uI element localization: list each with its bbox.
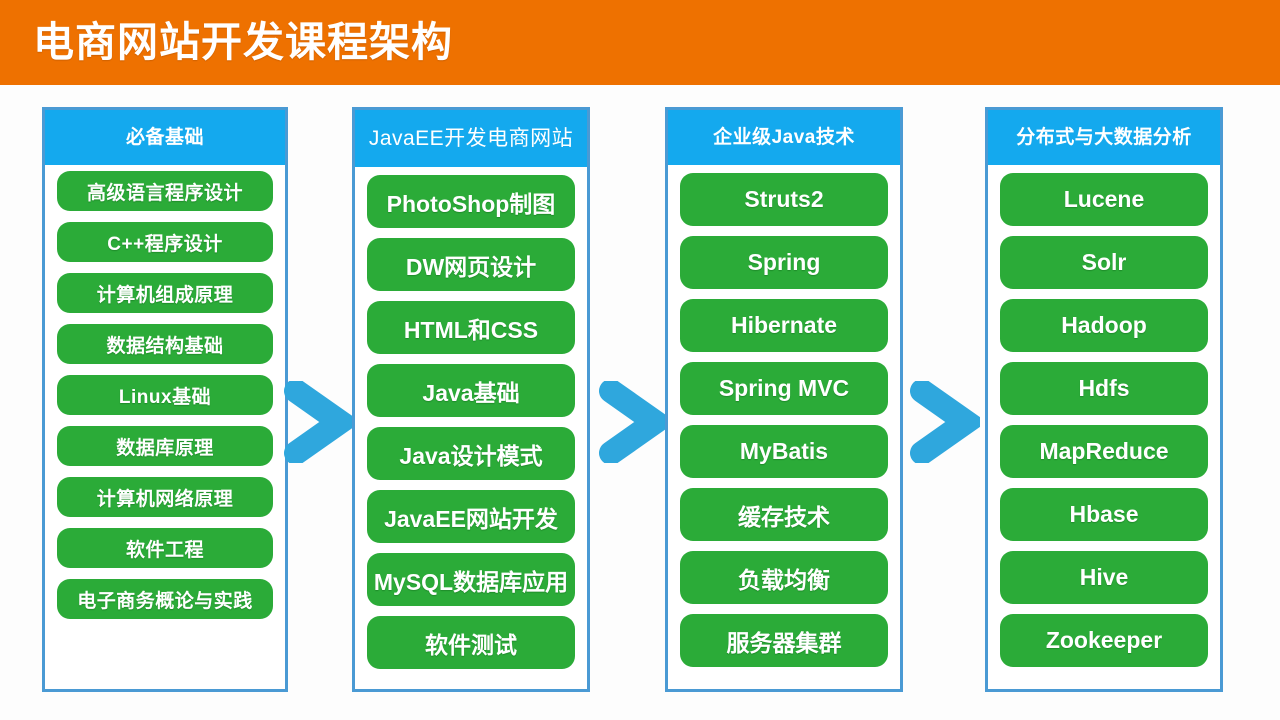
course-pill[interactable]: Hbase [1000,488,1208,541]
course-pill[interactable]: 服务器集群 [680,614,888,667]
chevron-right-icon [597,381,669,463]
course-pill[interactable]: Java设计模式 [367,427,575,480]
course-column-basics[interactable]: 必备基础 高级语言程序设计 C++程序设计 计算机组成原理 数据结构基础 Lin… [42,107,288,692]
chevron-right-icon [282,381,354,463]
course-pill[interactable]: 高级语言程序设计 [57,171,273,211]
course-pill[interactable]: Hdfs [1000,362,1208,415]
course-pill[interactable]: Zookeeper [1000,614,1208,667]
course-pill[interactable]: Hadoop [1000,299,1208,352]
course-pill[interactable]: DW网页设计 [367,238,575,291]
column-body-bigdata: Lucene Solr Hadoop Hdfs MapReduce Hbase … [988,165,1220,689]
column-body-enterprise-java: Struts2 Spring Hibernate Spring MVC MyBa… [668,165,900,689]
course-pill[interactable]: Hibernate [680,299,888,352]
course-pill[interactable]: Struts2 [680,173,888,226]
course-pill[interactable]: 缓存技术 [680,488,888,541]
course-pill[interactable]: Lucene [1000,173,1208,226]
course-column-enterprise-java[interactable]: 企业级Java技术 Struts2 Spring Hibernate Sprin… [665,107,903,692]
course-pill[interactable]: 计算机组成原理 [57,273,273,313]
chevron-right-icon [908,381,980,463]
course-column-javaee[interactable]: JavaEE开发电商网站 PhotoShop制图 DW网页设计 HTML和CSS… [352,107,590,692]
course-pill[interactable]: Spring MVC [680,362,888,415]
title-bar: 电商网站开发课程架构 [0,0,1280,85]
course-pill[interactable]: 软件测试 [367,616,575,669]
column-header-javaee: JavaEE开发电商网站 [355,110,587,167]
column-header-basics: 必备基础 [45,110,285,165]
column-body-basics: 高级语言程序设计 C++程序设计 计算机组成原理 数据结构基础 Linux基础 … [45,165,285,689]
course-roadmap: 必备基础 高级语言程序设计 C++程序设计 计算机组成原理 数据结构基础 Lin… [0,85,1280,720]
column-header-bigdata: 分布式与大数据分析 [988,110,1220,165]
course-pill[interactable]: 数据结构基础 [57,324,273,364]
course-pill[interactable]: HTML和CSS [367,301,575,354]
course-pill[interactable]: Hive [1000,551,1208,604]
course-pill[interactable]: MyBatis [680,425,888,478]
course-pill[interactable]: 负载均衡 [680,551,888,604]
course-pill[interactable]: 数据库原理 [57,426,273,466]
course-pill[interactable]: 软件工程 [57,528,273,568]
course-pill[interactable]: PhotoShop制图 [367,175,575,228]
course-pill[interactable]: Java基础 [367,364,575,417]
course-pill[interactable]: C++程序设计 [57,222,273,262]
page-title: 电商网站开发课程架构 [33,22,453,63]
course-pill[interactable]: Linux基础 [57,375,273,415]
course-pill[interactable]: MySQL数据库应用 [367,553,575,606]
course-pill[interactable]: 计算机网络原理 [57,477,273,517]
course-pill[interactable]: MapReduce [1000,425,1208,478]
course-pill[interactable]: Spring [680,236,888,289]
slide-canvas: 电商网站开发课程架构 必备基础 高级语言程序设计 C++程序设计 计算机组成原理… [0,0,1280,720]
course-pill[interactable]: Solr [1000,236,1208,289]
course-pill[interactable]: JavaEE网站开发 [367,490,575,543]
course-column-bigdata[interactable]: 分布式与大数据分析 Lucene Solr Hadoop Hdfs MapRed… [985,107,1223,692]
course-pill[interactable]: 电子商务概论与实践 [57,579,273,619]
column-body-javaee: PhotoShop制图 DW网页设计 HTML和CSS Java基础 Java设… [355,167,587,689]
column-header-enterprise-java: 企业级Java技术 [668,110,900,165]
